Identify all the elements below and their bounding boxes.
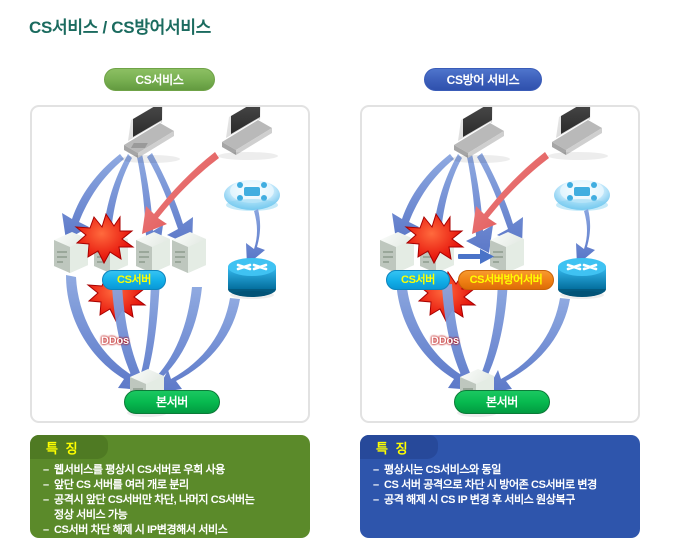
ddos-label-cs-service: DDos [101,335,129,347]
feature-item: 공격시 앞단 CS서버만 차단, 나머지 CS서버는 정상 서비스 가능 [43,493,302,523]
feature-item: 웹서비스를 평상시 CS서버로 우회 사용 [43,463,302,478]
feature-box-cs-service: 특 징 웹서비스를 평상시 CS서버로 우회 사용 앞단 CS 서버를 여러 개… [30,435,310,538]
feature-item: CS서버 차단 해제 시 IP변경해서 서비스 [43,523,302,538]
cs-server-label-cs-service: CS서버 [102,270,166,290]
feature-heading-cs-service: 특 징 [46,438,80,457]
diagram-canvas-cs-defense-service [362,107,638,421]
feature-list-cs-defense-service: 평상시는 CS서비스와 동일 CS 서버 공격으로 차단 시 방어존 CS서버로… [373,463,632,508]
defense-server-label: CS서버방어서버 [458,270,554,290]
feature-item: 평상시는 CS서비스와 동일 [373,463,632,478]
page-root: CS서비스 / CS방어서비스 CS서비스 CS방어 서비스 [0,0,680,555]
feature-heading-cs-defense-service: 특 징 [376,438,410,457]
main-server-label-cs-service: 본서버 [124,390,220,414]
column-badge-cs-defense-service: CS방어 서비스 [424,68,542,91]
feature-item: 앞단 CS 서버를 여러 개로 분리 [43,478,302,493]
main-server-label-cs-defense-service: 본서버 [454,390,550,414]
feature-box-cs-defense-service: 특 징 평상시는 CS서비스와 동일 CS 서버 공격으로 차단 시 방어존 C… [360,435,640,538]
page-title: CS서비스 / CS방어서비스 [29,13,211,38]
diagram-panel-cs-defense-service: DDos CS서버 CS서버방어서버 본서버 [360,105,640,423]
ddos-label-cs-defense-service: DDos [431,335,459,347]
feature-item: CS 서버 공격으로 차단 시 방어존 CS서버로 변경 [373,478,632,493]
column-badge-cs-service: CS서비스 [104,68,215,91]
diagram-canvas-cs-service [32,107,308,421]
diagram-panel-cs-service: DDos CS서버 본서버 [30,105,310,423]
feature-list-cs-service: 웹서비스를 평상시 CS서버로 우회 사용 앞단 CS 서버를 여러 개로 분리… [43,463,302,538]
feature-item: 공격 해제 시 CS IP 변경 후 서비스 원상복구 [373,493,632,508]
cs-server-label-cs-defense-service: CS서버 [386,270,450,290]
